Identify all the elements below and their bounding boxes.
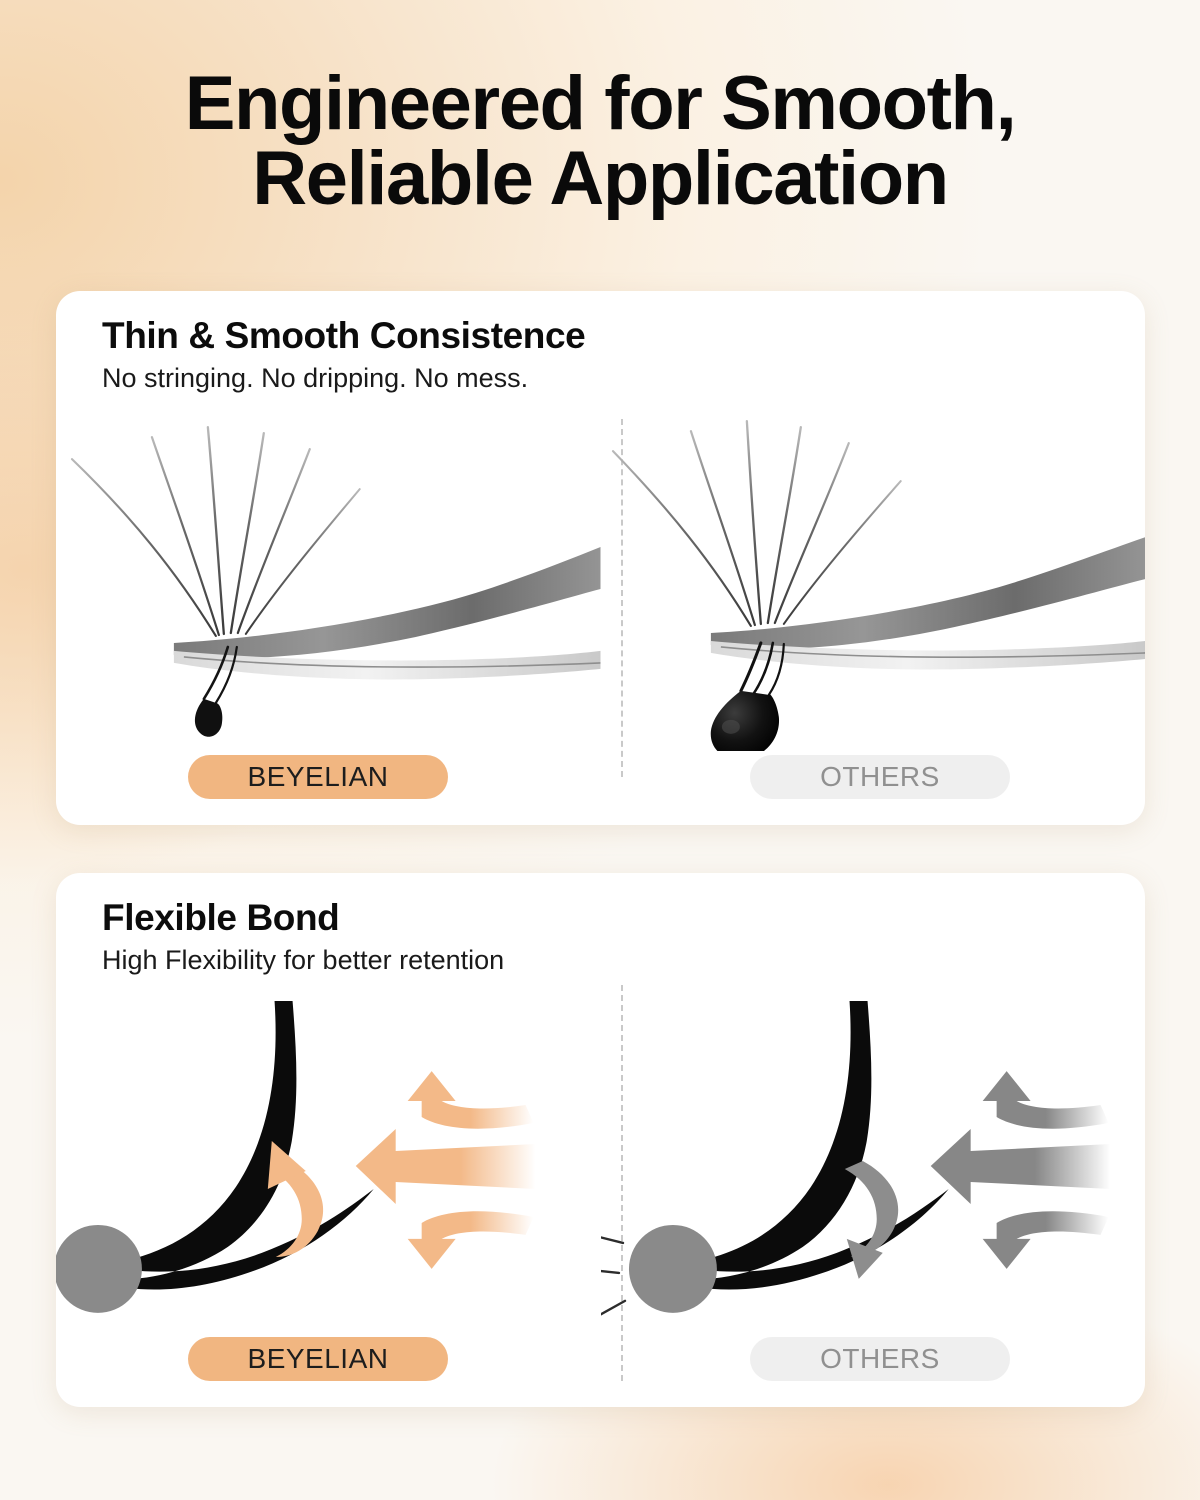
card-title: Flexible Bond (102, 897, 339, 939)
bond-dot (56, 1225, 142, 1313)
comparison-half-brand (56, 411, 601, 751)
tweezer-big-drop-illustration (601, 411, 1146, 751)
badge-row: BEYELIAN OTHERS (56, 1337, 1145, 1381)
card-subtitle: High Flexibility for better retention (102, 945, 504, 976)
card-title: Thin & Smooth Consistence (102, 315, 585, 357)
comparison-area (56, 1001, 1145, 1331)
flexible-bond-illustration (56, 1001, 601, 1331)
feature-card-flexible-bond: Flexible Bond High Flexibility for bette… (56, 873, 1145, 1407)
card-subtitle: No stringing. No dripping. No mess. (102, 363, 528, 394)
badge-beyelian: BEYELIAN (188, 1337, 448, 1381)
bond-dot (628, 1225, 716, 1313)
page-title-line-1: Engineered for Smooth, (0, 66, 1200, 141)
feature-card-consistence: Thin & Smooth Consistence No stringing. … (56, 291, 1145, 825)
page-title-line-2: Reliable Application (0, 141, 1200, 216)
cracking-bond-illustration (601, 1001, 1146, 1331)
page-title: Engineered for Smooth, Reliable Applicat… (0, 66, 1200, 216)
tweezer-thin-drip-illustration (56, 411, 601, 751)
comparison-half-others (601, 411, 1146, 751)
crack-lines (601, 1233, 625, 1321)
badge-row: BEYELIAN OTHERS (56, 755, 1145, 799)
badge-others: OTHERS (750, 755, 1010, 799)
comparison-half-brand (56, 1001, 601, 1331)
comparison-half-others (601, 1001, 1146, 1331)
badge-beyelian: BEYELIAN (188, 755, 448, 799)
comparison-area (56, 411, 1145, 751)
badge-others: OTHERS (750, 1337, 1010, 1381)
